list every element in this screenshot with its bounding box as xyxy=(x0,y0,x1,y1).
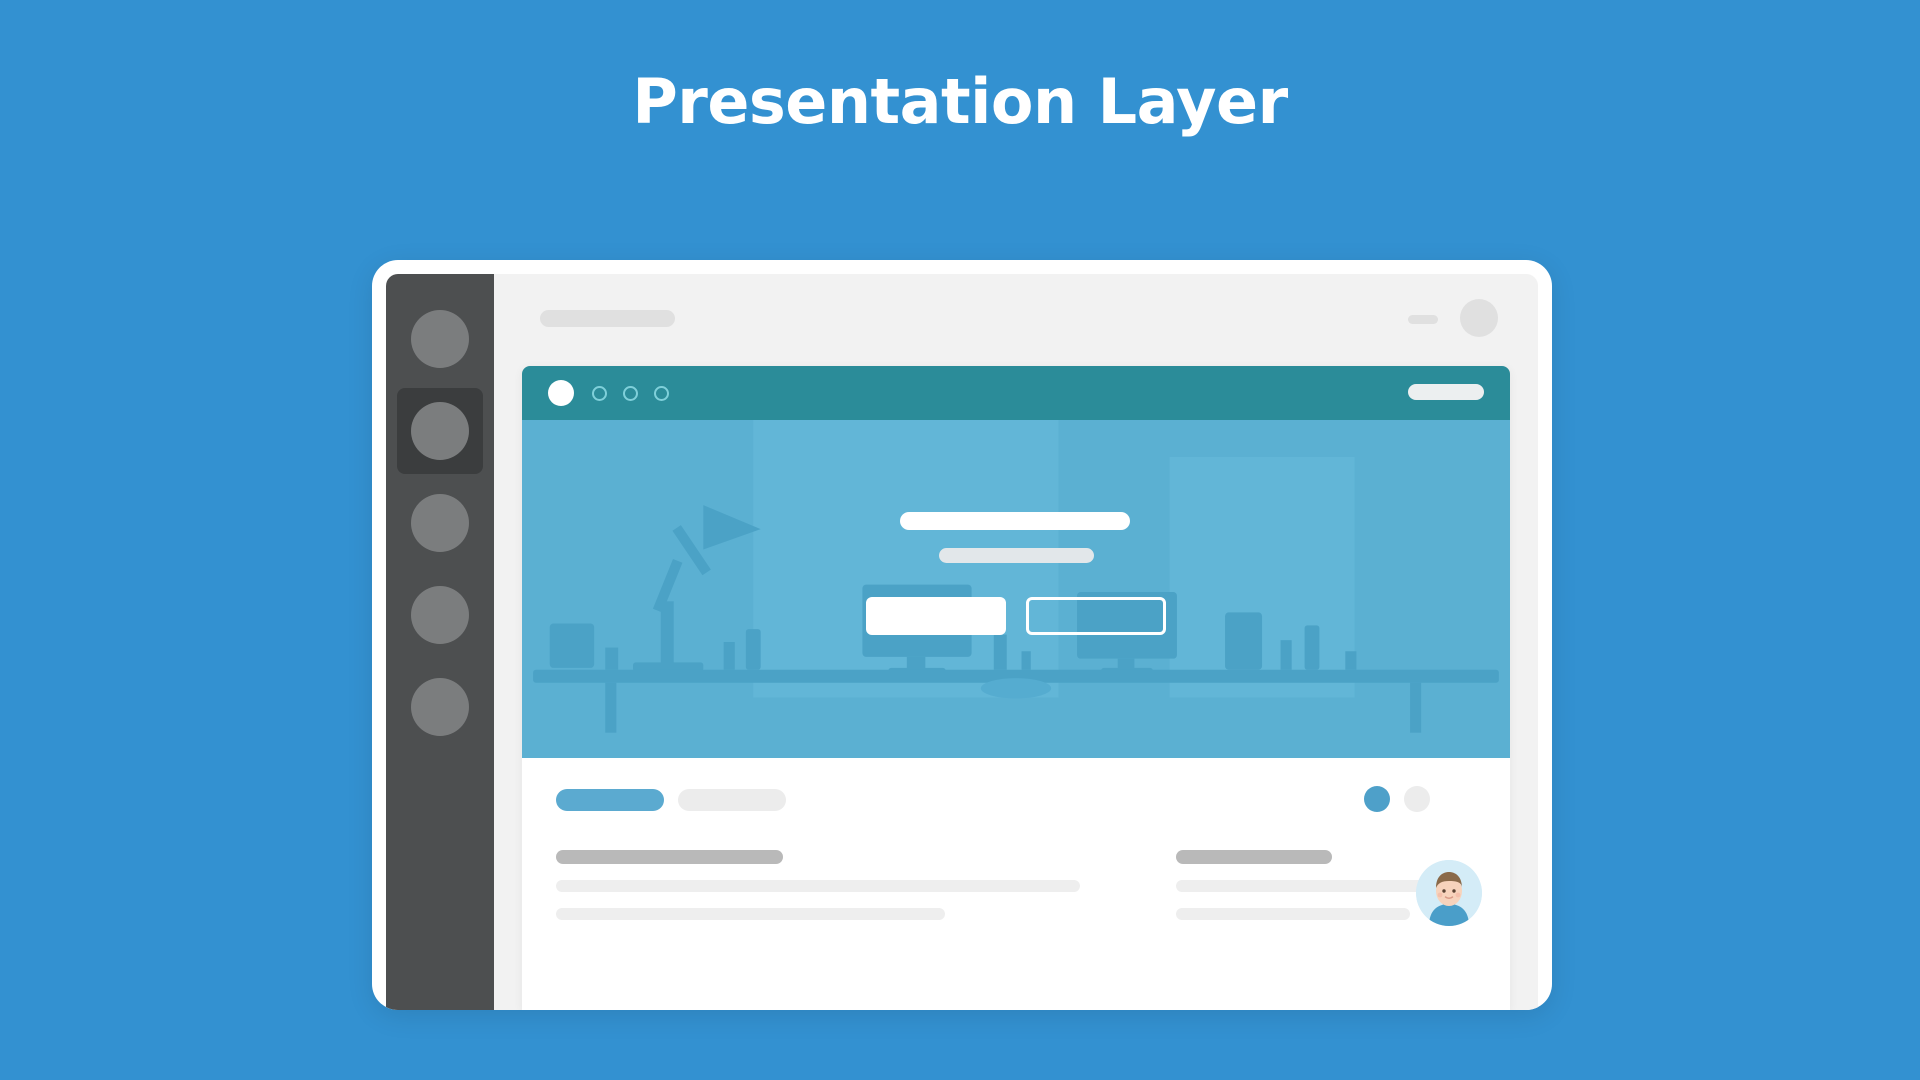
carousel-dot-2[interactable] xyxy=(1404,786,1430,812)
dash-icon[interactable] xyxy=(1408,315,1438,324)
text-line-body xyxy=(1176,908,1410,920)
app-sidebar xyxy=(386,274,494,1010)
hero-headline-placeholder xyxy=(900,512,1130,530)
circle-outline-icon[interactable] xyxy=(592,386,607,401)
carousel-dot-1-active[interactable] xyxy=(1364,786,1390,812)
user-avatar-icon[interactable] xyxy=(1416,860,1482,926)
text-line-body xyxy=(556,880,1080,892)
app-main-area xyxy=(494,274,1538,1010)
circle-icon xyxy=(411,494,469,552)
tabs-row xyxy=(556,784,1476,816)
text-line-heading xyxy=(556,850,783,864)
circle-icon xyxy=(411,310,469,368)
sidebar-item-1[interactable] xyxy=(397,296,483,382)
circle-avatar-icon[interactable] xyxy=(1460,299,1498,337)
tablet-device xyxy=(372,260,1552,1010)
hero-subheadline-placeholder xyxy=(939,548,1094,563)
carousel-dots xyxy=(1364,786,1430,812)
content-column-left xyxy=(556,850,1096,936)
sidebar-item-2-active[interactable] xyxy=(397,388,483,474)
page-title: Presentation Layer xyxy=(0,68,1920,136)
circle-icon xyxy=(411,586,469,644)
circle-filled-icon[interactable] xyxy=(548,380,574,406)
sidebar-item-4[interactable] xyxy=(397,572,483,658)
content-section xyxy=(522,758,1510,1010)
circle-icon xyxy=(411,678,469,736)
address-bar[interactable] xyxy=(1408,384,1484,400)
tab-2[interactable] xyxy=(678,789,786,811)
hero-copy xyxy=(522,512,1510,635)
circle-outline-icon[interactable] xyxy=(623,386,638,401)
secondary-cta-button[interactable] xyxy=(1026,597,1166,635)
content-columns xyxy=(556,850,1476,936)
text-line-heading xyxy=(1176,850,1332,864)
hero-button-group xyxy=(866,597,1166,635)
circle-icon xyxy=(411,402,469,460)
tab-1-active[interactable] xyxy=(556,789,664,811)
sidebar-item-3[interactable] xyxy=(397,480,483,566)
tablet-screen xyxy=(386,274,1538,1010)
app-topbar xyxy=(494,274,1538,366)
hero-banner xyxy=(522,420,1510,758)
browser-toolbar xyxy=(522,366,1510,420)
text-line-body xyxy=(556,908,945,920)
circle-outline-icon[interactable] xyxy=(654,386,669,401)
browser-window xyxy=(522,366,1510,1010)
sidebar-item-5[interactable] xyxy=(397,664,483,750)
avatar-illustration xyxy=(1416,860,1482,926)
primary-cta-button[interactable] xyxy=(866,597,1006,635)
app-title-placeholder xyxy=(540,310,675,327)
